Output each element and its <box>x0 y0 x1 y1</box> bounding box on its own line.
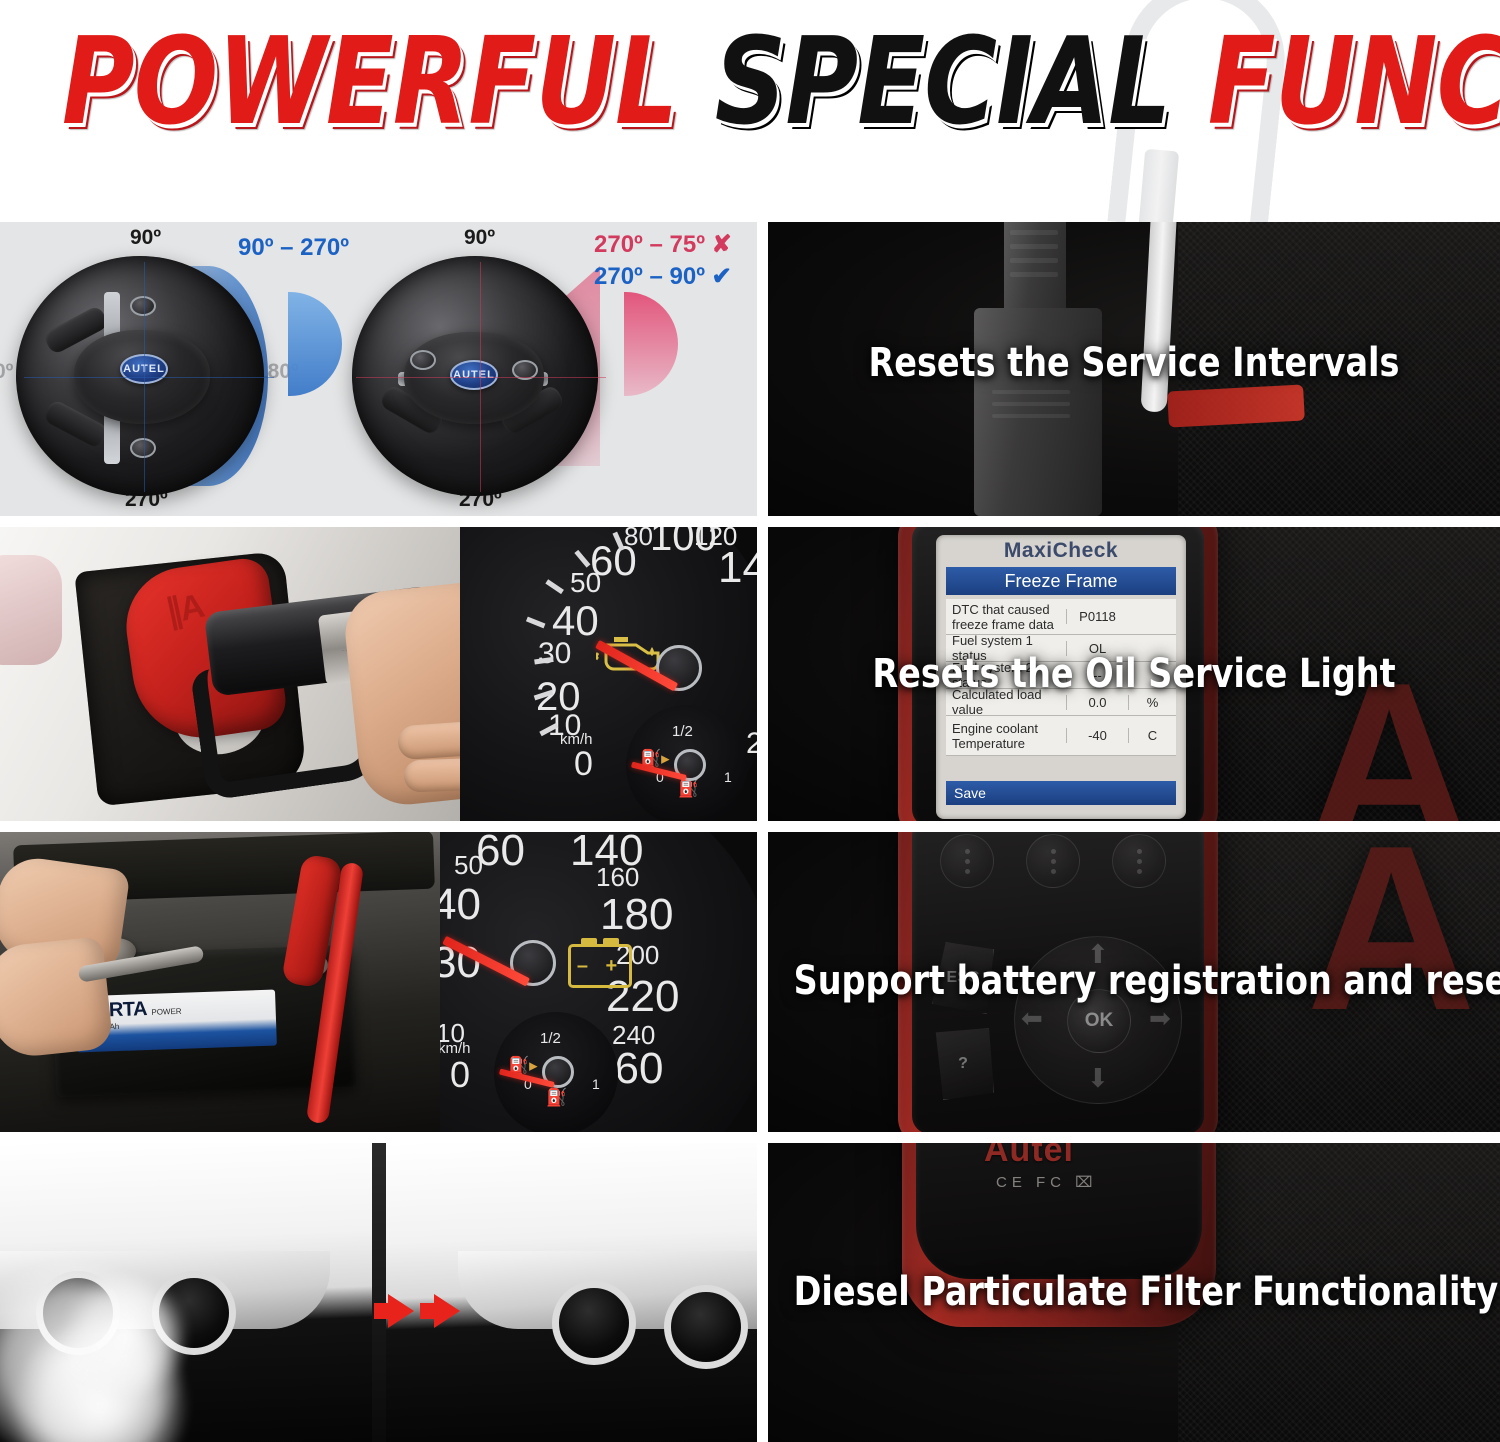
instrument-cluster-battery: 60 50 40 30 10 km/h 0 140 160 180 200 22… <box>440 832 757 1132</box>
steering-angle-diagram-panel: 90º 270º 0º 180º AUTEL <box>0 222 757 516</box>
left-wheel-control-lower-icon <box>130 438 156 458</box>
obd-ridge-4 <box>1010 272 1058 277</box>
arrow-down-icon[interactable]: ⬇ <box>1087 1063 1109 1094</box>
param-value-0: P0118 <box>1066 609 1128 624</box>
speed3-tick-180: 180 <box>600 890 673 940</box>
speed-zero: 0 <box>574 745 593 784</box>
left-wheel-left-degree: 0º <box>0 360 13 384</box>
bumper-gap <box>372 1143 386 1442</box>
battery-photo-panel: VARTA POWER 12V 70Ah 60 50 40 30 <box>0 832 757 1132</box>
device-screen-panel: MaxiCheck Freeze Frame DTC that caused f… <box>768 527 1500 821</box>
arrow-icon-1 <box>388 1294 414 1328</box>
oil-service-photo-panel: ∥A 10 20 30 40 50 60 80 100 120 <box>0 527 757 821</box>
right-wheel-crosshair-v <box>480 262 481 492</box>
arrow-tail-1 <box>374 1303 388 1319</box>
left-wheel-control-upper-icon <box>130 296 156 316</box>
left-wheel-crosshair-v <box>144 262 145 492</box>
right-wheel-crosshair-h <box>356 377 606 378</box>
right-wheel-annotation-good-text: 270º – 90º <box>594 263 705 290</box>
cross-mark-icon: ✘ <box>712 231 732 258</box>
fn-dot <box>1137 849 1142 854</box>
low-fuel-warning-icon: ⛽ <box>678 779 699 799</box>
function-button-center[interactable] <box>1026 834 1080 888</box>
battery-sub: POWER <box>151 1007 182 1017</box>
speed3-zero: 0 <box>450 1054 470 1096</box>
arrow-icon-2 <box>434 1294 460 1328</box>
arrow-tail-2 <box>420 1303 434 1319</box>
right-wheel-annotation-good: 270º – 90º ✔ <box>594 262 732 291</box>
feature-row-dpf: Autel CE FC ⌧ Diesel Particulate Filter … <box>0 1143 1500 1442</box>
param-unit-4: C <box>1128 728 1176 743</box>
speed-tick-80: 80 <box>624 527 653 552</box>
diagram-background: 90º 270º 0º 180º AUTEL <box>0 222 757 516</box>
fn-dot <box>1051 869 1056 874</box>
mechanic-hand-lower <box>0 936 114 1060</box>
obd-shroud-line-3 <box>992 414 1070 418</box>
title-word-3: FUNCTION <box>1206 20 1500 146</box>
low-fuel-warning-icon-3: ⛽ <box>546 1088 567 1108</box>
fn-dot <box>965 849 970 854</box>
fn-dot <box>1137 869 1142 874</box>
fn-dot <box>965 869 970 874</box>
taillight <box>0 555 62 665</box>
feature-row-steering-angle-reset: 90º 270º 0º 180º AUTEL <box>0 222 1500 516</box>
speed3-tick-40: 40 <box>440 880 481 930</box>
fn-dot <box>1137 859 1142 864</box>
caption-text-service-intervals: Resets the Service Intervals <box>794 340 1475 386</box>
screen-header-bar: Freeze Frame <box>946 567 1176 595</box>
exhaust-photo <box>0 1143 757 1442</box>
left-wheel-mini-arc <box>288 292 342 396</box>
smoke-cloud-3 <box>60 1275 190 1395</box>
device-model-label: MaxiCheck <box>936 539 1186 563</box>
right-wheel-top-degree: 90º <box>464 226 495 250</box>
check-mark-icon: ✔ <box>712 263 732 290</box>
fuel-gauge-half-label: 1/2 <box>672 723 693 740</box>
battery-warning-light-icon: – + <box>568 944 632 988</box>
page-title: POWERFUL SPECIAL FUNCTION <box>60 20 1440 150</box>
feature-row-oil-service-reset: ∥A 10 20 30 40 50 60 80 100 120 <box>0 527 1500 821</box>
caption-text-dpf: Diesel Particulate Filter Functionality <box>794 1269 1475 1315</box>
caption-text-battery-registration: Support battery registration and reset <box>794 958 1475 1004</box>
param-value-4: -40 <box>1066 728 1128 743</box>
obd-ridge-2 <box>1010 244 1058 249</box>
fn-dot <box>1051 859 1056 864</box>
speed3-tick-50: 50 <box>454 850 483 881</box>
header-banner: POWERFUL SPECIAL FUNCTION <box>0 0 1500 222</box>
device-keypad-panel: ESC ? ⬆ ⬇ ⬅ ➡ OK A Support battery regis… <box>768 832 1500 1132</box>
left-wheel-annotation: 90º – 270º <box>238 234 349 262</box>
feature-grid: 90º 270º 0º 180º AUTEL <box>0 222 1500 1442</box>
obd-ridge-3 <box>1010 258 1058 263</box>
caption-text-oil-service: Resets the Oil Service Light <box>794 651 1475 697</box>
speed3-tick-160: 160 <box>596 862 639 893</box>
right-wheel-annotation-bad: 270º – 75º ✘ <box>594 230 732 259</box>
right-wheel-control-left-icon <box>410 350 436 370</box>
title-word-2: SPECIAL <box>713 20 1172 146</box>
arrow-left-icon[interactable]: ⬅ <box>1021 1003 1043 1034</box>
obd-shroud-line-2 <box>992 402 1070 406</box>
exhaust-pipe-after-1 <box>552 1281 636 1365</box>
certification-marks: CE FC ⌧ <box>996 1173 1097 1191</box>
speed3-tick-60: 60 <box>476 832 525 876</box>
device-red-trim-top <box>1167 384 1305 427</box>
fuel-gauge3-half-label: 1/2 <box>540 1030 561 1047</box>
left-wheel-top-degree: 90º <box>130 226 161 250</box>
instrument-cluster-oil: 10 20 30 40 50 60 80 100 120 140 km/h 0 <box>460 527 757 821</box>
left-wheel-crosshair-h <box>24 377 274 378</box>
param-name-0: DTC that caused freeze frame data <box>946 602 1066 632</box>
param-name-4: Engine coolant Temperature <box>946 721 1066 751</box>
speed-tick-140: 140 <box>718 543 757 593</box>
obd-shroud-line-1 <box>992 390 1070 394</box>
fuel-gauge-full-label: 1 <box>724 769 732 785</box>
feature-row-battery-registration: VARTA POWER 12V 70Ah 60 50 40 30 <box>0 832 1500 1132</box>
function-button-right[interactable] <box>1112 834 1166 888</box>
fuel-gauge3-full-label: 1 <box>592 1076 600 1092</box>
speed-tick-40: 40 <box>552 597 599 645</box>
autel-a-logo-background-3: A <box>1306 832 1476 1045</box>
cluster-edge-number: 2 <box>746 727 757 761</box>
screen-save-button[interactable]: Save <box>946 781 1176 805</box>
arrow-right-icon[interactable]: ➡ <box>1149 1003 1171 1034</box>
fn-dot <box>965 859 970 864</box>
nozzle-logo-icon: ∥A <box>162 586 205 633</box>
table-row: Engine coolant Temperature -40 C <box>946 716 1176 756</box>
car-battery-photo: VARTA POWER 12V 70Ah <box>0 832 440 1132</box>
fn-dot <box>1051 849 1056 854</box>
finger-2 <box>403 757 460 792</box>
device-brand-label: Autel <box>984 1143 1074 1170</box>
caption-panel-dpf: Autel CE FC ⌧ Diesel Particulate Filter … <box>768 1143 1500 1442</box>
obd-ridge-1 <box>1010 230 1058 235</box>
fuel-refueling-photo: ∥A <box>0 527 460 821</box>
exhaust-comparison-panel <box>0 1143 757 1442</box>
caption-panel-service-intervals: Resets the Service Intervals <box>768 222 1500 516</box>
right-wheel-autel-badge: AUTEL <box>450 360 498 390</box>
table-row: DTC that caused freeze frame data P0118 <box>946 599 1176 635</box>
exhaust-pipe-after-2 <box>664 1285 748 1369</box>
title-word-1: POWERFUL <box>60 20 679 146</box>
right-wheel-mini-arc <box>624 292 678 396</box>
function-button-left[interactable] <box>940 834 994 888</box>
right-wheel-annotation-bad-text: 270º – 75º <box>594 231 705 258</box>
